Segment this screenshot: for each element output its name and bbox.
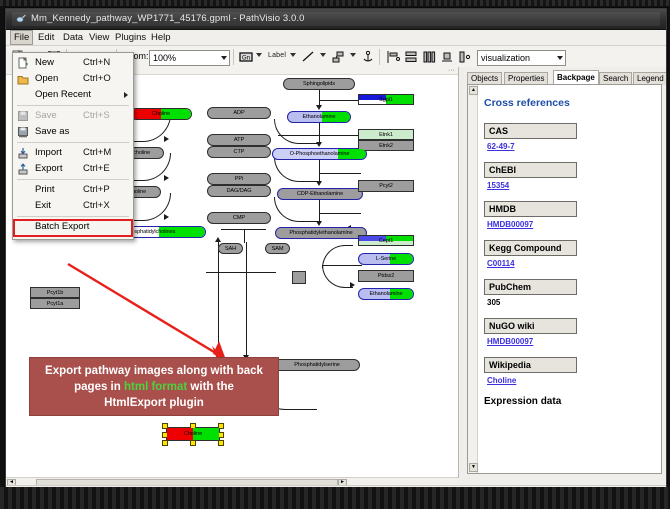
shape-icon[interactable] xyxy=(330,49,346,65)
scroll-up-arrow-icon[interactable]: ▲ xyxy=(469,86,478,95)
node-l-serine[interactable]: L-Serine xyxy=(358,253,414,265)
xref-link-kegg[interactable]: C00114 xyxy=(487,259,515,268)
callout-highlight-html-format: html format xyxy=(124,381,187,393)
menu-plugins[interactable]: Plugins xyxy=(111,31,150,44)
callout-line-1: Export pathway images along with back xyxy=(45,363,263,379)
menubar: File Edit Data View Plugins Help xyxy=(6,30,666,46)
callout-line-2-pre: pages in xyxy=(74,381,124,393)
xref-value-cas[interactable]: 62-49-7 xyxy=(487,142,655,151)
menu-item-accel: Ctrl+E xyxy=(83,161,110,177)
edge-enzyme-line-pcyt2 xyxy=(319,173,361,174)
node-label: ADP xyxy=(233,110,244,116)
node-label: ATP xyxy=(234,137,244,143)
label-dropdown-arrow[interactable] xyxy=(290,53,296,57)
edge-enzyme-line-sgpl1 xyxy=(319,100,361,101)
cross-references-heading: Cross references xyxy=(484,97,655,109)
node-label: Pcyt1a xyxy=(47,301,64,307)
xref-value-wikipedia[interactable]: Choline xyxy=(487,376,655,385)
annotation-callout: Export pathway images along with back pa… xyxy=(29,357,279,416)
node-label: L-Serine xyxy=(376,256,396,262)
menu-item-label: Save as xyxy=(35,124,69,140)
arrowhead-sphingolipids-ethanolamine xyxy=(316,105,322,110)
menu-item-accel: Ctrl+P xyxy=(83,182,110,198)
menu-item-accel: Ctrl+N xyxy=(83,55,110,71)
arrowhead-up-ptdethanolamine xyxy=(215,237,221,242)
arrowhead-to-ppi xyxy=(164,175,169,181)
menu-item-label: Batch Export xyxy=(35,221,89,233)
node-label: Sphingolipids xyxy=(303,81,335,87)
window-titlebar: Mm_Kennedy_pathway_WP1771_45176.gpml - P… xyxy=(6,9,666,30)
xref-link-hmdb[interactable]: HMDB00097 xyxy=(487,220,533,229)
menu-separator-2 xyxy=(17,142,129,143)
xref-value-chebi[interactable]: 15354 xyxy=(487,181,655,190)
menu-item-label: Save xyxy=(35,108,57,124)
tab-backpage[interactable]: Backpage xyxy=(553,70,599,85)
selected-node-choline[interactable]: Choline xyxy=(166,427,220,441)
node-etnk1[interactable]: Etnk1 xyxy=(358,129,414,140)
node-sam[interactable]: SAM xyxy=(265,243,290,254)
node-label: SAM xyxy=(272,246,284,252)
node-ptdss2[interactable]: Ptdss2 xyxy=(358,270,414,282)
resize-handle-se[interactable] xyxy=(218,440,224,446)
desktop-background: Mm_Kennedy_pathway_WP1771_45176.gpml - P… xyxy=(0,0,670,509)
node-sphingolipids[interactable]: Sphingolipids xyxy=(283,78,355,90)
node-label: Ethanolamine xyxy=(302,114,335,120)
edge-loop-ethanolamine2 xyxy=(322,265,353,288)
menu-item-new[interactable]: New Ctrl+N xyxy=(13,55,133,71)
xref-value-kegg[interactable]: C00114 xyxy=(487,259,655,268)
toolbar-separator-4 xyxy=(379,49,380,65)
node-ethanolamine-2[interactable]: Ethanolamine xyxy=(358,288,414,300)
group-icon[interactable] xyxy=(457,49,473,65)
xref-value-hmdb[interactable]: HMDB00097 xyxy=(487,220,655,229)
side-panel: Objects Properties Backpage Search Legen… xyxy=(459,67,666,478)
node-label: Phosphatidylethanolamine xyxy=(289,230,352,236)
node-sgpl1[interactable]: Sgpl1 xyxy=(358,94,414,105)
node-cept1[interactable]: Cept1 xyxy=(358,235,414,246)
node-choline-top[interactable]: Choline xyxy=(130,108,192,120)
anchor-icon[interactable] xyxy=(360,49,376,65)
visualization-combobox[interactable]: visualization xyxy=(477,50,566,66)
xref-db-hmdb: HMDB xyxy=(484,201,577,217)
chevron-down-icon xyxy=(557,56,563,60)
xref-db-chebi: ChEBI xyxy=(484,162,577,178)
menu-separator-4 xyxy=(17,216,129,217)
node-label: CTP xyxy=(234,149,245,155)
arrowhead-to-atp xyxy=(164,136,169,142)
menu-item-label: Exit xyxy=(35,198,51,214)
node-label: CDP-Ethanolamine xyxy=(297,191,343,197)
node-o-phosphoethanolamine[interactable]: O-Phosphoethanolamine xyxy=(272,148,367,160)
node-ethanolamine[interactable]: Ethanolamine xyxy=(287,111,351,123)
node-sah[interactable]: SAH xyxy=(218,243,243,254)
save-icon xyxy=(17,110,29,122)
pathvisio-window: Mm_Kennedy_pathway_WP1771_45176.gpml - P… xyxy=(5,8,667,497)
gene-datanode-icon[interactable]: Gn xyxy=(238,49,254,65)
visualization-value: visualization xyxy=(481,53,530,63)
node-etnk2[interactable]: Etnk2 xyxy=(358,140,414,151)
file-menu-dropdown[interactable]: New Ctrl+N Open Ctrl+O Open Recent Save xyxy=(12,52,134,240)
menu-data[interactable]: Data xyxy=(59,31,87,44)
menu-view[interactable]: View xyxy=(85,31,113,44)
edge-loop-right-2 xyxy=(274,157,321,182)
node-label: Ethanolamine xyxy=(369,291,402,297)
node-label: Cept1 xyxy=(379,238,393,244)
xref-db-nugo: NuGO wiki xyxy=(484,318,577,334)
expression-data-heading: Expression data xyxy=(484,396,655,407)
menu-item-import[interactable]: Import Ctrl+M xyxy=(13,145,133,161)
node-label: SAH xyxy=(225,246,236,252)
menu-edit[interactable]: Edit xyxy=(34,31,58,44)
resize-handle-sw[interactable] xyxy=(162,440,168,446)
menu-item-label: New xyxy=(35,55,54,71)
zoom-combobox[interactable]: 100% xyxy=(149,50,230,66)
xref-db-pubchem: PubChem xyxy=(484,279,577,295)
edge-sam-stem xyxy=(244,229,245,243)
line-icon[interactable] xyxy=(300,49,316,65)
node-label: Sgpl1 xyxy=(379,97,393,103)
node-label: Ptdss2 xyxy=(378,273,395,279)
toolbar-separator-3 xyxy=(233,49,234,65)
datanode-dropdown-arrow[interactable] xyxy=(256,53,262,57)
node-label: PPi xyxy=(235,176,243,182)
callout-line-2-post: with the xyxy=(187,381,234,393)
menu-separator-3 xyxy=(17,179,129,180)
xref-db-wikipedia: Wikipedia xyxy=(484,357,577,373)
backpage-content: Cross references CAS 62-49-7 ChEBI 15354… xyxy=(478,85,661,473)
node-label: Pcyt1b xyxy=(47,290,64,296)
distribute-icon[interactable] xyxy=(421,49,437,65)
node-label: DAG/DAG xyxy=(226,188,251,194)
node-atp[interactable]: ATP xyxy=(207,134,271,146)
menu-item-save-as[interactable]: Save as xyxy=(13,124,133,140)
node-label: Phosphatidylserine xyxy=(294,362,339,368)
menu-item-open-recent[interactable]: Open Recent xyxy=(13,87,133,103)
edge-loop-right-3 xyxy=(274,197,321,222)
menu-item-accel: Ctrl+X xyxy=(83,198,110,214)
stack-icon[interactable] xyxy=(439,49,455,65)
backpage-panel: ▲ ▼ Cross references CAS 62-49-7 ChEBI 1… xyxy=(467,84,662,474)
line-dropdown-arrow[interactable] xyxy=(320,53,326,57)
statusbar: | Gene database: ...m_Derby_20120602.bri… xyxy=(6,485,666,496)
align-top-icon[interactable] xyxy=(403,49,419,65)
node-label: CMP xyxy=(233,215,245,221)
resize-handle-s[interactable] xyxy=(190,440,196,446)
menu-item-accel: Ctrl+S xyxy=(83,108,110,124)
node-label: Etnk2 xyxy=(379,143,393,149)
menu-item-accel: Ctrl+M xyxy=(83,145,111,161)
node-cdp-ethanolamine[interactable]: CDP-Ethanolamine xyxy=(277,188,363,200)
xref-link-cas[interactable]: 62-49-7 xyxy=(487,142,515,151)
open-folder-icon xyxy=(17,73,29,85)
xref-link-wikipedia[interactable]: Choline xyxy=(487,376,516,385)
menu-item-label: Print xyxy=(35,182,55,198)
menu-item-label: Import xyxy=(35,145,62,161)
xref-db-kegg: Kegg Compound xyxy=(484,240,577,256)
svg-text:Gn: Gn xyxy=(242,56,250,62)
backpage-vertical-scrollbar[interactable]: ▲ ▼ xyxy=(468,85,478,473)
node-label: Pcyt2 xyxy=(379,183,393,189)
node-choline-selected[interactable]: Choline xyxy=(166,427,220,441)
menu-item-export[interactable]: Export Ctrl+E xyxy=(13,161,133,177)
new-file-icon xyxy=(17,57,29,69)
menu-item-save[interactable]: Save Ctrl+S xyxy=(13,108,133,124)
chevron-down-icon xyxy=(221,56,227,60)
menu-item-label: Open xyxy=(35,71,58,87)
arrowhead-to-cmp xyxy=(164,214,169,220)
xref-value-pubchem: 305 xyxy=(487,298,655,307)
app-icon xyxy=(16,14,26,24)
scroll-down-arrow-icon[interactable]: ▼ xyxy=(469,463,478,472)
menu-item-batch-export[interactable]: Batch Export xyxy=(13,219,133,237)
node-ctp[interactable]: CTP xyxy=(207,146,271,158)
node-pcyt2[interactable]: Pcyt2 xyxy=(358,180,414,192)
menu-item-label: Export xyxy=(35,161,62,177)
node-dag-dag[interactable]: DAG/DAG xyxy=(207,185,271,197)
xref-value-nugo[interactable]: HMDB00097 xyxy=(487,337,655,346)
node-phosphatidylethanolamine[interactable]: Phosphatidylethanolamine xyxy=(275,227,367,239)
node-label: Choline xyxy=(152,111,170,117)
menu-item-open[interactable]: Open Ctrl+O xyxy=(13,71,133,87)
red-arrow-icon xyxy=(66,262,286,372)
node-anchor-box[interactable] xyxy=(292,271,306,284)
node-phosphatidylserine[interactable]: Phosphatidylserine xyxy=(274,359,360,371)
callout-line-3: HtmlExport plugin xyxy=(104,395,204,411)
side-panel-tabs: Objects Properties Backpage Search Legen… xyxy=(467,70,666,84)
arrowhead-to-ethanolamine2 xyxy=(350,282,355,288)
xref-db-cas: CAS xyxy=(484,123,577,139)
chevron-right-icon xyxy=(124,92,128,98)
canvas-scroll-hint: ··· xyxy=(448,67,455,74)
menu-help[interactable]: Help xyxy=(147,31,175,44)
menu-separator-1 xyxy=(17,105,129,106)
shape-dropdown-arrow[interactable] xyxy=(350,53,356,57)
menu-item-label: Open Recent xyxy=(35,87,91,103)
window-title: Mm_Kennedy_pathway_WP1771_45176.gpml - P… xyxy=(31,13,305,24)
import-icon xyxy=(17,147,29,159)
node-label: Choline xyxy=(184,431,202,437)
align-left-icon[interactable] xyxy=(385,49,401,65)
node-cmp[interactable]: CMP xyxy=(207,212,271,224)
node-adp[interactable]: ADP xyxy=(207,107,271,119)
callout-line-2: pages in html format with the xyxy=(74,379,234,395)
node-label: O-Phosphoethanolamine xyxy=(290,151,350,157)
xref-link-nugo[interactable]: HMDB00097 xyxy=(487,337,533,346)
edge-enzyme-line-cept1b xyxy=(319,213,361,214)
label-tool[interactable]: Label xyxy=(268,52,286,59)
zoom-value: 100% xyxy=(153,53,176,63)
node-label: Etnk1 xyxy=(379,132,393,138)
export-icon xyxy=(17,163,29,175)
xref-link-chebi[interactable]: 15354 xyxy=(487,181,509,190)
node-ppi[interactable]: PPi xyxy=(207,173,271,185)
menu-item-accel: Ctrl+O xyxy=(83,71,111,87)
menu-item-exit[interactable]: Exit Ctrl+X xyxy=(13,198,133,214)
menu-item-print[interactable]: Print Ctrl+P xyxy=(13,182,133,198)
menu-file[interactable]: File xyxy=(10,30,33,45)
save-as-icon xyxy=(17,126,29,138)
